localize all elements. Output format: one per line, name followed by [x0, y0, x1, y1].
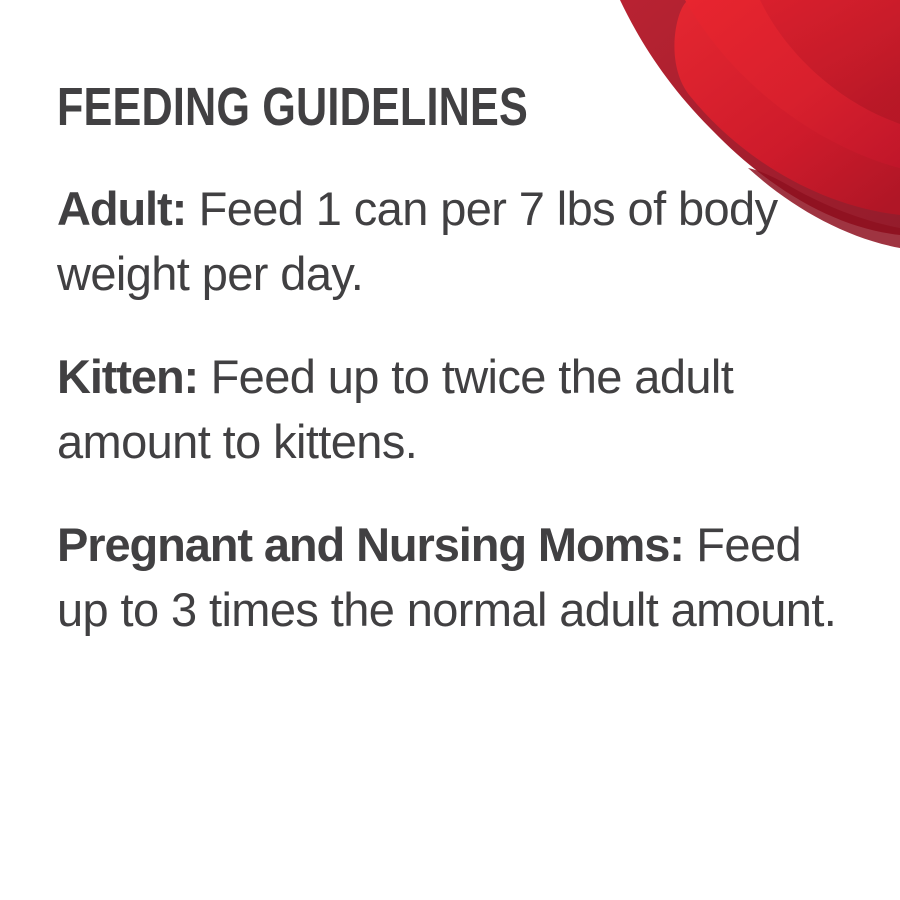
guideline-pregnant-nursing: Pregnant and Nursing Moms: Feed up to 3 …: [57, 512, 847, 642]
guideline-pregnant-nursing-label: Pregnant and Nursing Moms:: [57, 518, 684, 571]
guideline-kitten-label: Kitten:: [57, 350, 198, 403]
guideline-adult: Adult: Feed 1 can per 7 lbs of body weig…: [57, 176, 847, 306]
guideline-adult-label: Adult:: [57, 182, 186, 235]
guideline-kitten: Kitten: Feed up to twice the adult amoun…: [57, 344, 847, 474]
page-title: FEEDING GUIDELINES: [57, 78, 689, 136]
text-content: FEEDING GUIDELINES Adult: Feed 1 can per…: [57, 78, 847, 642]
feeding-guidelines-panel: FEEDING GUIDELINES Adult: Feed 1 can per…: [0, 0, 900, 900]
